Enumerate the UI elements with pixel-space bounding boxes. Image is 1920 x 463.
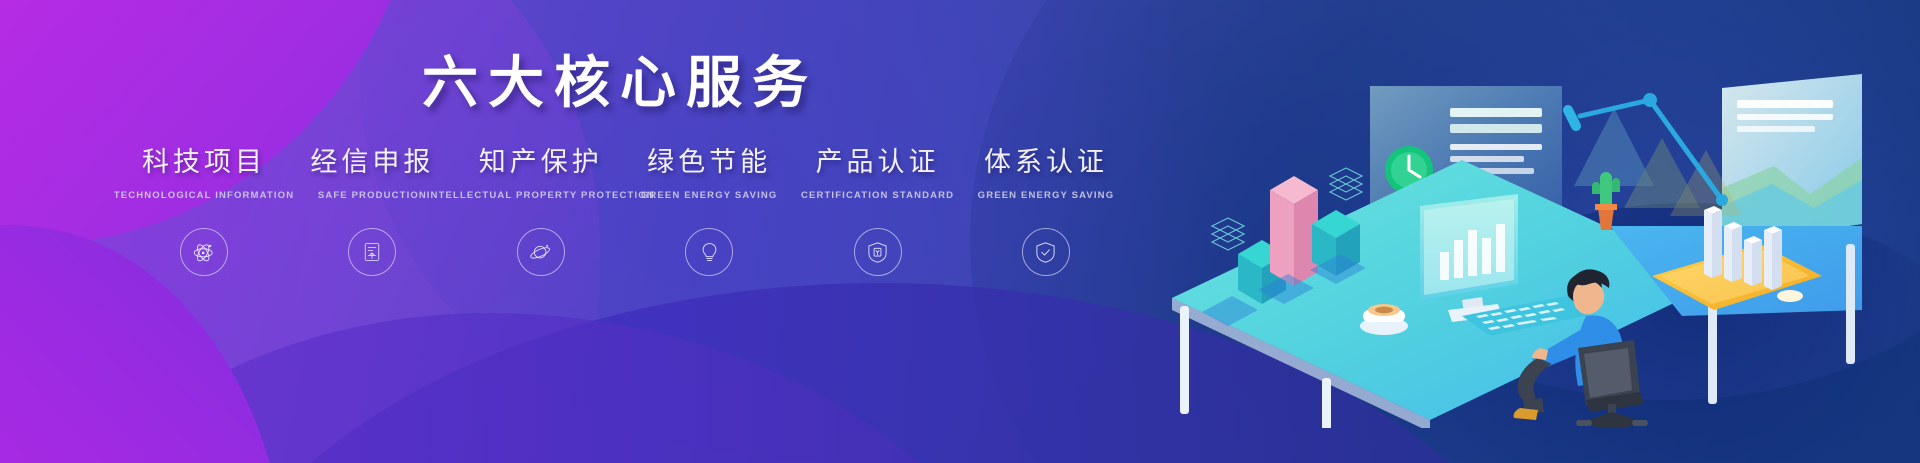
service-title-en: GREEN ENERGY SAVING (641, 190, 778, 201)
service-title-cn: 绿色节能 (647, 140, 771, 179)
lightbulb-icon[interactable] (685, 228, 733, 276)
service-item-certification-standard[interactable]: 产品认证 CERTIFICATION STANDARD (794, 140, 962, 276)
planet-icon[interactable] (517, 228, 565, 276)
services-banner: 六大核心服务 科技项目 TECHNOLOGICAL INFORMATION (0, 0, 1920, 463)
office-chair (1576, 340, 1648, 428)
service-title-en: TECHNOLOGICAL INFORMATION (114, 190, 294, 201)
service-item-green-energy-saving[interactable]: 绿色节能 GREEN ENERGY SAVING (625, 140, 793, 276)
service-title-cn: 科技项目 (142, 140, 266, 179)
shield-badge-icon[interactable] (854, 228, 902, 276)
service-title-cn: 体系认证 (984, 140, 1108, 179)
service-title-en: SAFE PRODUCTION (318, 190, 427, 201)
document-upload-icon[interactable] (348, 228, 396, 276)
shield-check-icon[interactable] (1022, 228, 1070, 276)
service-title-en: CERTIFICATION STANDARD (801, 190, 954, 201)
floating-area-chart-panel (1722, 74, 1862, 244)
service-item-system-certification[interactable]: 体系认证 GREEN ENERGY SAVING (962, 140, 1130, 276)
service-title-cn: 知产保护 (479, 140, 603, 179)
service-title-cn: 经信申报 (310, 140, 434, 179)
service-item-safe-production[interactable]: 经信申报 SAFE PRODUCTION (288, 140, 456, 276)
service-item-intellectual-property-protection[interactable]: 知产保护 INTELLECTUAL PROPERTY PROTECTION (457, 140, 625, 276)
service-item-technological-information[interactable]: 科技项目 TECHNOLOGICAL INFORMATION (120, 140, 288, 276)
service-title-en: INTELLECTUAL PROPERTY PROTECTION (427, 190, 655, 201)
service-title-cn: 产品认证 (816, 140, 940, 179)
atom-icon[interactable] (180, 228, 228, 276)
isometric-office-illustration (1162, 48, 1862, 428)
service-list: 科技项目 TECHNOLOGICAL INFORMATION 经信申报 SAFE… (120, 140, 1130, 276)
page-title: 六大核心服务 (0, 38, 1240, 119)
service-title-en: GREEN ENERGY SAVING (978, 190, 1115, 201)
